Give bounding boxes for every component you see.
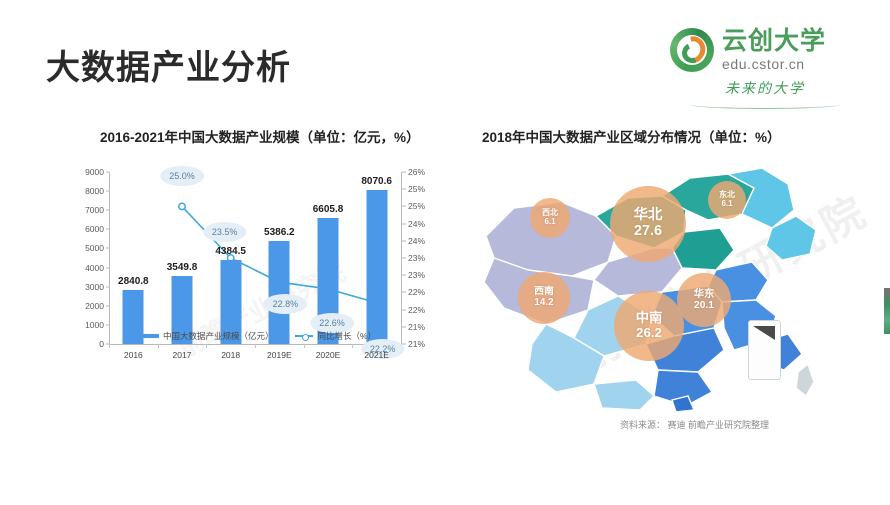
logo-name-cn: 云创大学 (722, 28, 826, 54)
y-axis-tick-label: 4000 (85, 263, 104, 273)
y2-axis-tick-mark (402, 240, 406, 241)
y-axis-tick-label: 5000 (85, 243, 104, 253)
x-axis-tick-mark (206, 344, 207, 348)
y2-axis-tick-mark (402, 206, 406, 207)
region-bubble-华东[interactable]: 华东20.1 (677, 273, 731, 327)
y2-axis-tick-mark (402, 309, 406, 310)
bar-value-label: 4384.5 (215, 246, 246, 257)
y-axis-tick-mark (106, 229, 109, 230)
region-bubble-东北[interactable]: 东北6.1 (708, 181, 746, 219)
y2-axis-tick-label: 25% (408, 201, 425, 211)
growth-rate-bubble: 22.8% (264, 294, 308, 314)
bar-value-label: 6605.8 (313, 204, 344, 215)
x-axis-tick-label: 2018 (221, 350, 240, 360)
growth-rate-bubble: 23.5% (203, 222, 247, 242)
y-axis-tick-mark (106, 324, 109, 325)
bar-2019E[interactable] (269, 241, 290, 344)
edge-accent-bar (884, 288, 890, 334)
y-axis-tick-mark (106, 267, 109, 268)
plot-area: 010002000300040005000600070008000900021%… (109, 172, 401, 344)
region-value-label: 20.1 (694, 300, 714, 311)
y2-axis-tick-mark (402, 275, 406, 276)
y-axis-tick-label: 7000 (85, 205, 104, 215)
y2-axis-tick-label: 23% (408, 270, 425, 280)
y2-axis-tick-label: 23% (408, 253, 425, 263)
left-chart-title: 2016-2021年中国大数据产业规模（单位：亿元，%） (62, 118, 457, 146)
china-region-map: 西北6.1东北6.1华北27.6华东20.1中南26.2西南14.2 (476, 158, 866, 413)
region-bubble-华北[interactable]: 华北27.6 (610, 186, 686, 262)
bar-line-combo-chart: 010002000300040005000600070008000900021%… (62, 164, 457, 409)
region-bubble-西北[interactable]: 西北6.1 (530, 198, 570, 238)
bar-value-label: 5386.2 (264, 227, 295, 238)
y-axis-tick-mark (106, 172, 109, 173)
left-chart-panel: 2016-2021年中国大数据产业规模（单位：亿元，%） 01000200030… (62, 118, 457, 408)
region-bubble-西南[interactable]: 西南14.2 (518, 272, 570, 324)
logo-name-en: edu.cstor.cn (722, 56, 826, 72)
growth-rate-bubble: 25.0% (160, 166, 204, 186)
brand-logo: 云创大学 edu.cstor.cn 未来的大学 (670, 28, 860, 104)
y-axis-tick-mark (106, 248, 109, 249)
y-axis-tick-label: 8000 (85, 186, 104, 196)
x-axis-tick-mark (109, 344, 110, 348)
chart-legend: 中国大数据产业规模（亿元） 同比增长（%） (62, 330, 457, 342)
y2-axis-tick-mark (402, 292, 406, 293)
x-axis-tick-label: 2020E (316, 350, 341, 360)
region-value-label: 6.1 (721, 200, 732, 209)
x-axis-tick-mark (304, 344, 305, 348)
y2-axis-tick-label: 26% (408, 167, 425, 177)
y-axis-tick-mark (106, 305, 109, 306)
region-value-label: 27.6 (634, 224, 662, 240)
x-axis-tick-label: 2016 (124, 350, 143, 360)
y2-axis-tick-mark (402, 172, 406, 173)
y-axis-tick-mark (106, 286, 109, 287)
x-axis-tick-label: 2017 (173, 350, 192, 360)
y-axis-tick-label: 1000 (85, 320, 104, 330)
y-axis-tick-label: 9000 (85, 167, 104, 177)
y2-axis-tick-mark (402, 223, 406, 224)
cstor-swirl-logo-icon (670, 28, 714, 72)
page-title: 大数据产业分析 (46, 40, 291, 89)
right-chart-title: 2018年中国大数据产业区域分布情况（单位：%） (470, 118, 870, 146)
legend-item-line: 同比增长（%） (295, 330, 376, 342)
region-bubble-中南[interactable]: 中南26.2 (614, 291, 684, 361)
legend-label-line: 同比增长（%） (317, 330, 376, 342)
y2-axis-tick-mark (402, 189, 406, 190)
line-data-point[interactable] (179, 203, 185, 209)
x-axis-tick-mark (255, 344, 256, 348)
y-axis-tick-label: 3000 (85, 282, 104, 292)
legend-line-swatch-icon (295, 335, 313, 337)
y2-axis-tick-label: 22% (408, 305, 425, 315)
x-axis-tick-label: 2019E (267, 350, 292, 360)
x-axis-tick-mark (352, 344, 353, 348)
region-name-label: 华东 (694, 289, 715, 300)
region-name-label: 中南 (636, 311, 663, 326)
y2-axis-tick-label: 24% (408, 219, 425, 229)
region-value-label: 6.1 (544, 218, 555, 227)
bar-value-label: 2840.8 (118, 276, 149, 287)
bar-2021E[interactable] (366, 190, 387, 344)
y2-axis-tick-mark (402, 326, 406, 327)
y-axis-tick-mark (106, 210, 109, 211)
decorative-device-shape (748, 320, 781, 380)
x-axis-tick-mark (158, 344, 159, 348)
logo-tagline: 未来的大学 (670, 78, 860, 98)
legend-item-bar: 中国大数据产业规模（亿元） (143, 330, 274, 342)
bar-value-label: 8070.6 (361, 176, 392, 187)
y2-axis-tick-label: 24% (408, 236, 425, 246)
logo-underline-divider (690, 100, 840, 109)
growth-line-series (109, 172, 401, 344)
bar-value-label: 3549.8 (167, 262, 198, 273)
x-axis-tick-label: 2021E (364, 350, 389, 360)
region-name-label: 华北 (634, 208, 663, 224)
legend-bar-swatch-icon (143, 334, 159, 338)
y-axis-tick-label: 6000 (85, 224, 104, 234)
y2-axis-tick-mark (402, 258, 406, 259)
region-value-label: 26.2 (636, 326, 662, 341)
y-axis-tick-label: 2000 (85, 301, 104, 311)
y2-axis-tick-label: 22% (408, 287, 425, 297)
right-map-panel: 2018年中国大数据产业区域分布情况（单位：%） (470, 118, 870, 438)
y-axis-tick-mark (106, 191, 109, 192)
data-source-note: 资料来源： 赛迪 前瞻产业研究院整理 (620, 418, 769, 431)
region-value-label: 14.2 (534, 298, 553, 309)
legend-label-bar: 中国大数据产业规模（亿元） (163, 330, 274, 342)
y2-axis-tick-label: 25% (408, 184, 425, 194)
